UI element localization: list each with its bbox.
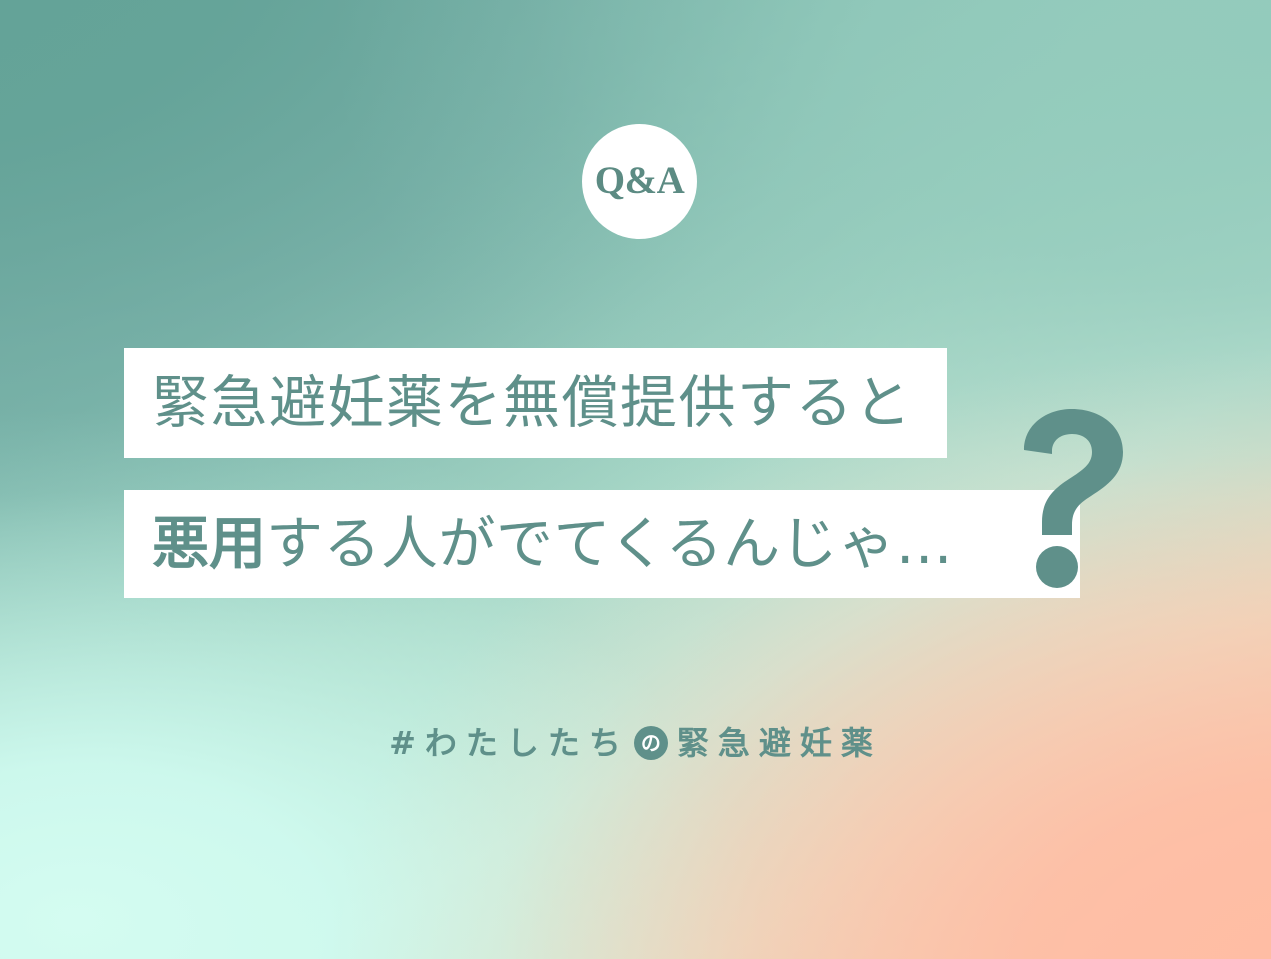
hashtag-footer: #わたしたちの緊急避妊薬: [0, 714, 1271, 774]
qa-badge: Q&A: [582, 124, 697, 239]
headline-bar-2: 悪用する人がでてくるんじゃ…: [124, 490, 1080, 598]
headline-bar-1: 緊急避妊薬を無償提供すると: [124, 348, 947, 458]
hashtag-segment-2: 緊急避妊薬: [677, 727, 882, 759]
headline-line-1-text: 緊急避妊薬を無償提供すると: [152, 375, 913, 432]
qa-badge-label: Q&A: [595, 161, 685, 200]
hashtag-text: #わたしたちの緊急避妊薬: [389, 727, 882, 762]
hashtag-prefix: #: [389, 727, 425, 759]
poster-canvas: Q&A 緊急避妊薬を無償提供すると 悪用する人がでてくるんじゃ… #わたしたちの…: [0, 0, 1271, 959]
headline-line-2: 悪用する人がでてくるんじゃ…: [152, 516, 953, 573]
headline-block: 緊急避妊薬を無償提供すると 悪用する人がでてくるんじゃ…: [124, 348, 1144, 600]
headline-line-2-text: する人がでてくるんじゃ…: [266, 511, 953, 577]
headline-line-2-emphasis: 悪用: [152, 511, 266, 577]
hashtag-segment-1: わたしたち: [425, 727, 630, 759]
hashtag-no-circle: の: [634, 726, 668, 760]
